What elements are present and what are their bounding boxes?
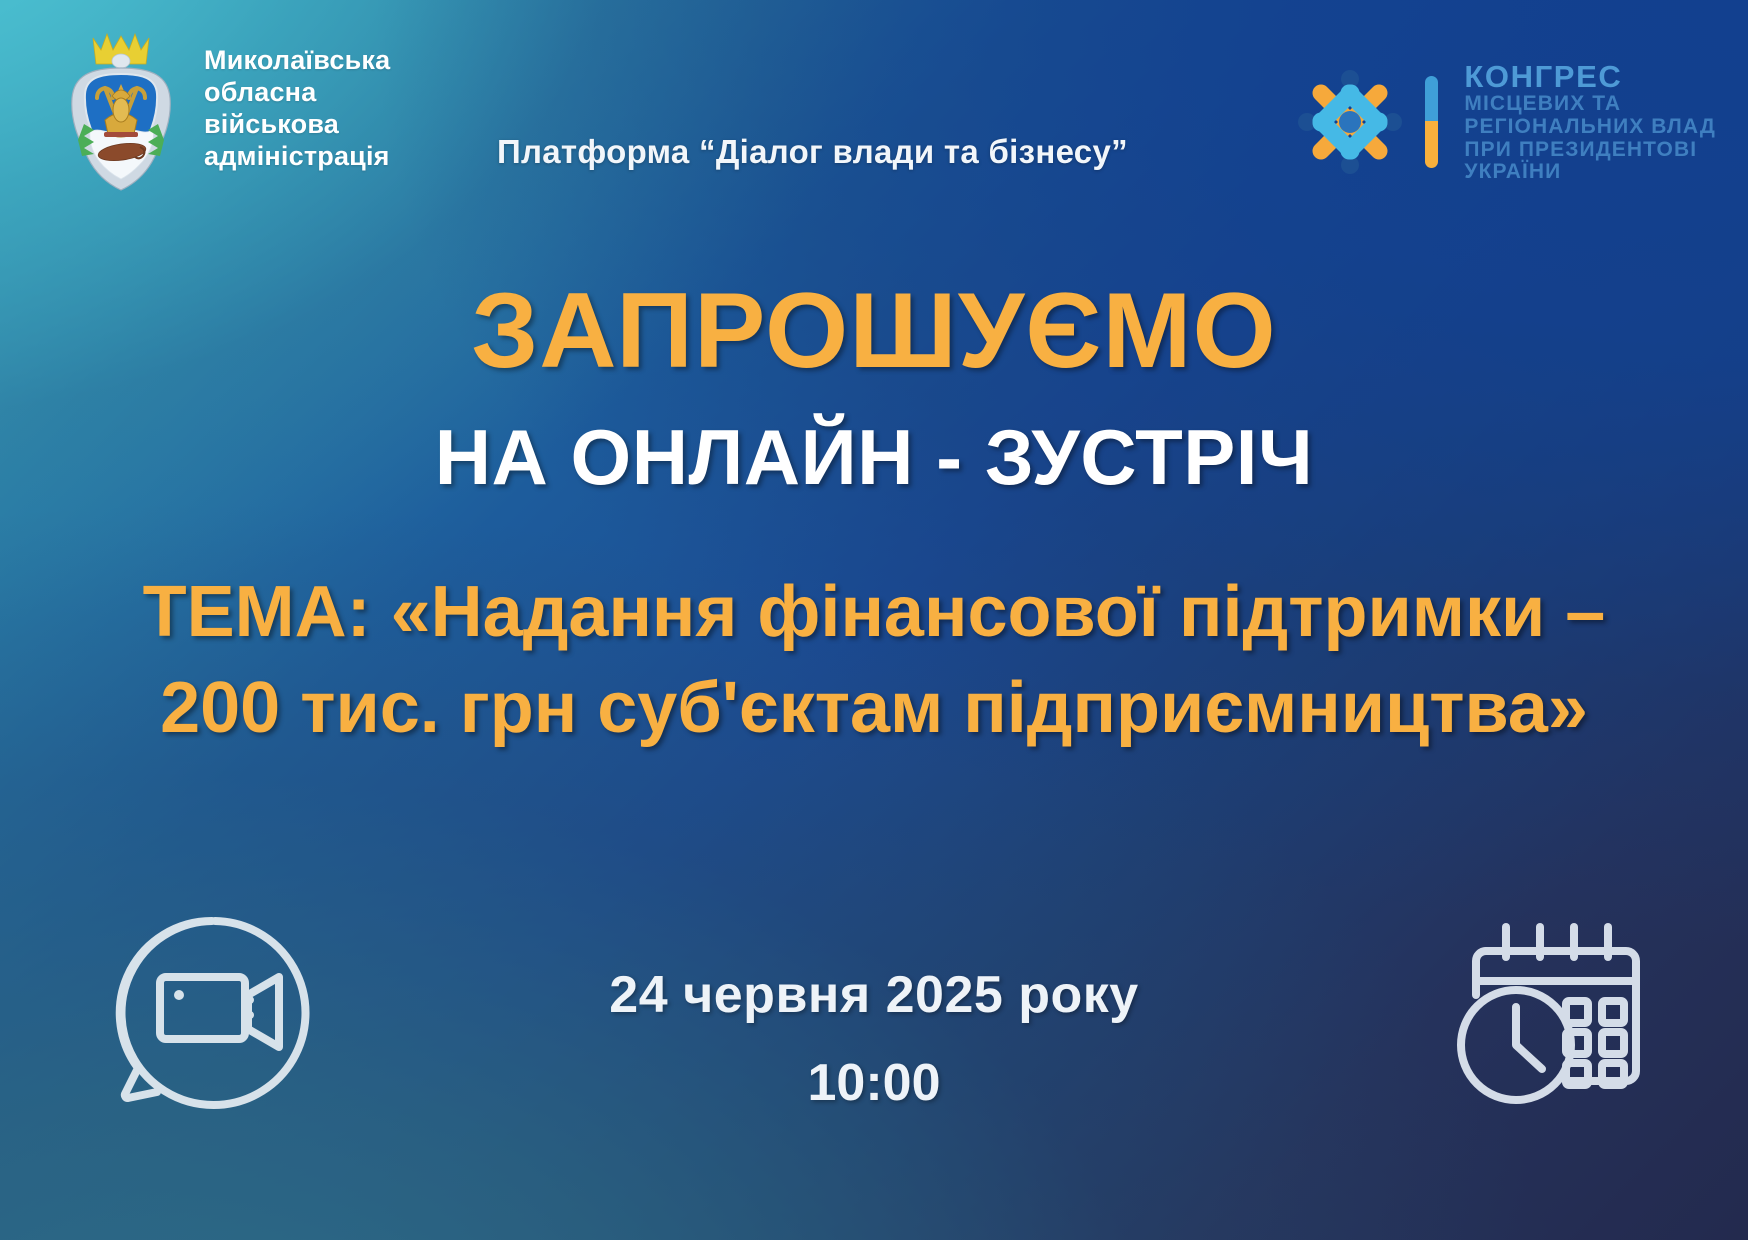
organization-name: Миколаївська обласна військова адміністр… (204, 44, 390, 173)
congress-line-1: КОНГРЕС (1464, 60, 1716, 93)
calendar-clock-icon (1448, 905, 1663, 1120)
congress-line-3: РЕГІОНАЛЬНИХ ВЛАД (1464, 116, 1716, 139)
topic-heading: ТЕМА: «Надання фінансової підтримки – 20… (110, 565, 1638, 757)
poster-header: Миколаївська обласна військова адміністр… (0, 0, 1748, 210)
congress-branding: КОНГРЕС МІСЦЕВИХ ТА РЕГІОНАЛЬНИХ ВЛАД ПР… (1291, 60, 1716, 184)
congress-wordmark: КОНГРЕС МІСЦЕВИХ ТА РЕГІОНАЛЬНИХ ВЛАД ПР… (1464, 60, 1716, 184)
invite-heading: ЗАПРОШУЄМО (0, 268, 1748, 392)
congress-line-4: ПРИ ПРЕЗИДЕНТОВІ (1464, 139, 1716, 162)
mykolaiv-oblast-coat-of-arms-icon (60, 24, 182, 192)
poster-canvas: Миколаївська обласна військова адміністр… (0, 0, 1748, 1240)
platform-title: Платформа “Діалог влади та бізнесу” (497, 133, 1128, 171)
congress-flower-mark-icon (1291, 63, 1409, 181)
congress-divider-bar (1425, 76, 1438, 168)
meeting-heading: НА ОНЛАЙН - ЗУСТРІЧ (0, 412, 1748, 503)
video-chat-bubble-icon (105, 905, 320, 1120)
organization-branding: Миколаївська обласна військова адміністр… (60, 24, 390, 192)
congress-line-5: УКРАЇНИ (1464, 161, 1716, 184)
congress-line-2: МІСЦЕВИХ ТА (1464, 93, 1716, 116)
